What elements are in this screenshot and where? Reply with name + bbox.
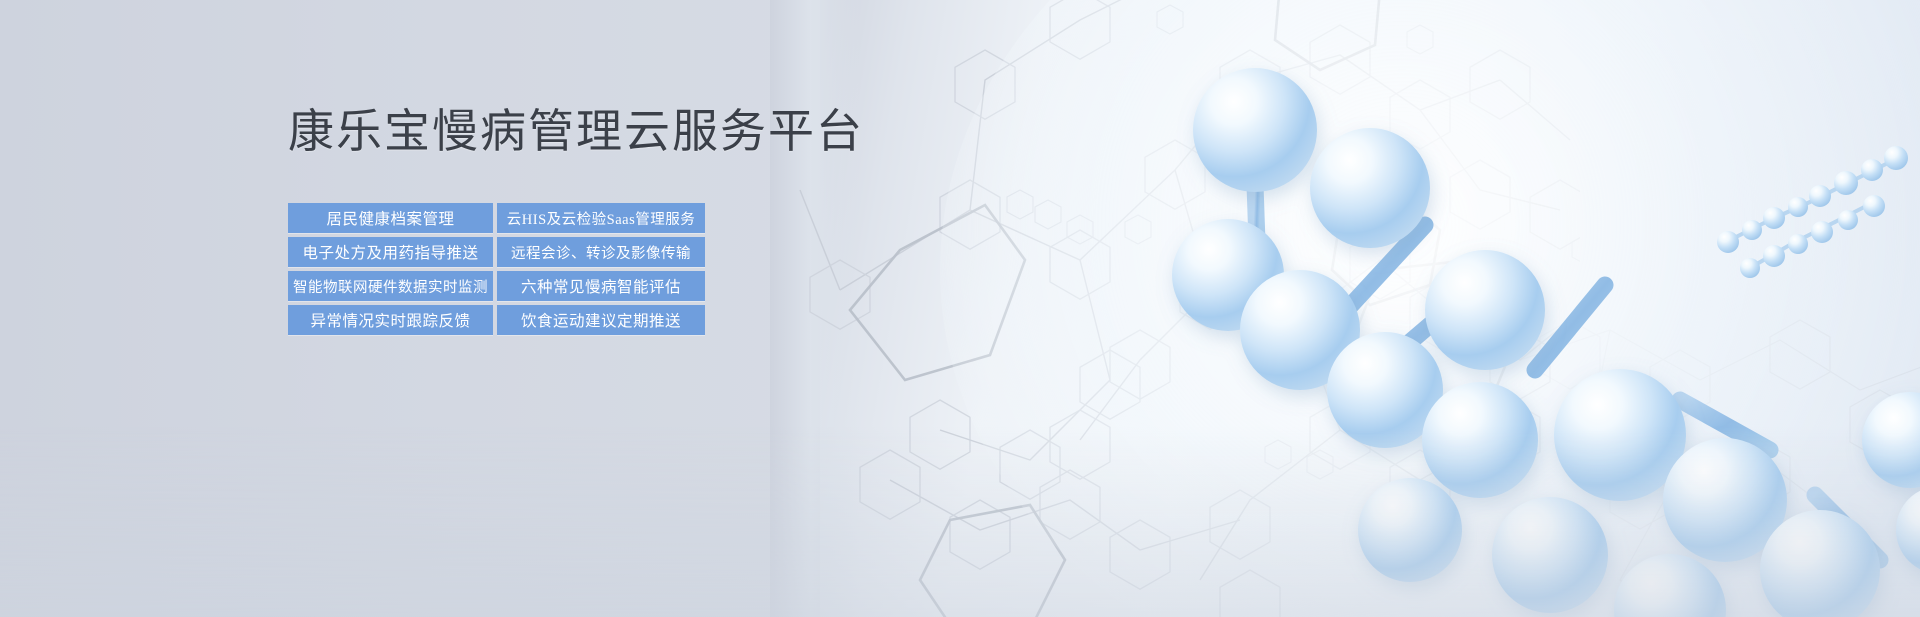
banner-content: 康乐宝慢病管理云服务平台 居民健康档案管理 云HIS及云检验Saas管理服务 电… (288, 104, 848, 335)
hero-banner: 康乐宝慢病管理云服务平台 居民健康档案管理 云HIS及云检验Saas管理服务 电… (0, 0, 1920, 617)
feature-tag-anomaly-tracking-feedback[interactable]: 异常情况实时跟踪反馈 (288, 305, 493, 335)
feature-tag-diet-exercise-advice[interactable]: 饮食运动建议定期推送 (497, 305, 705, 335)
feature-tag-grid: 居民健康档案管理 云HIS及云检验Saas管理服务 电子处方及用药指导推送 远程… (288, 203, 848, 335)
feature-tag-iot-device-monitoring[interactable]: 智能物联网硬件数据实时监测 (288, 271, 493, 301)
feature-tag-chronic-disease-assessment[interactable]: 六种常见慢病智能评估 (497, 271, 705, 301)
feature-tag-e-prescription-push[interactable]: 电子处方及用药指导推送 (288, 237, 493, 267)
feature-tag-resident-health-records[interactable]: 居民健康档案管理 (288, 203, 493, 233)
banner-title: 康乐宝慢病管理云服务平台 (288, 104, 848, 159)
feature-tag-remote-consultation[interactable]: 远程会诊、转诊及影像传输 (497, 237, 705, 267)
feature-tag-cloud-his-saas[interactable]: 云HIS及云检验Saas管理服务 (497, 203, 705, 233)
